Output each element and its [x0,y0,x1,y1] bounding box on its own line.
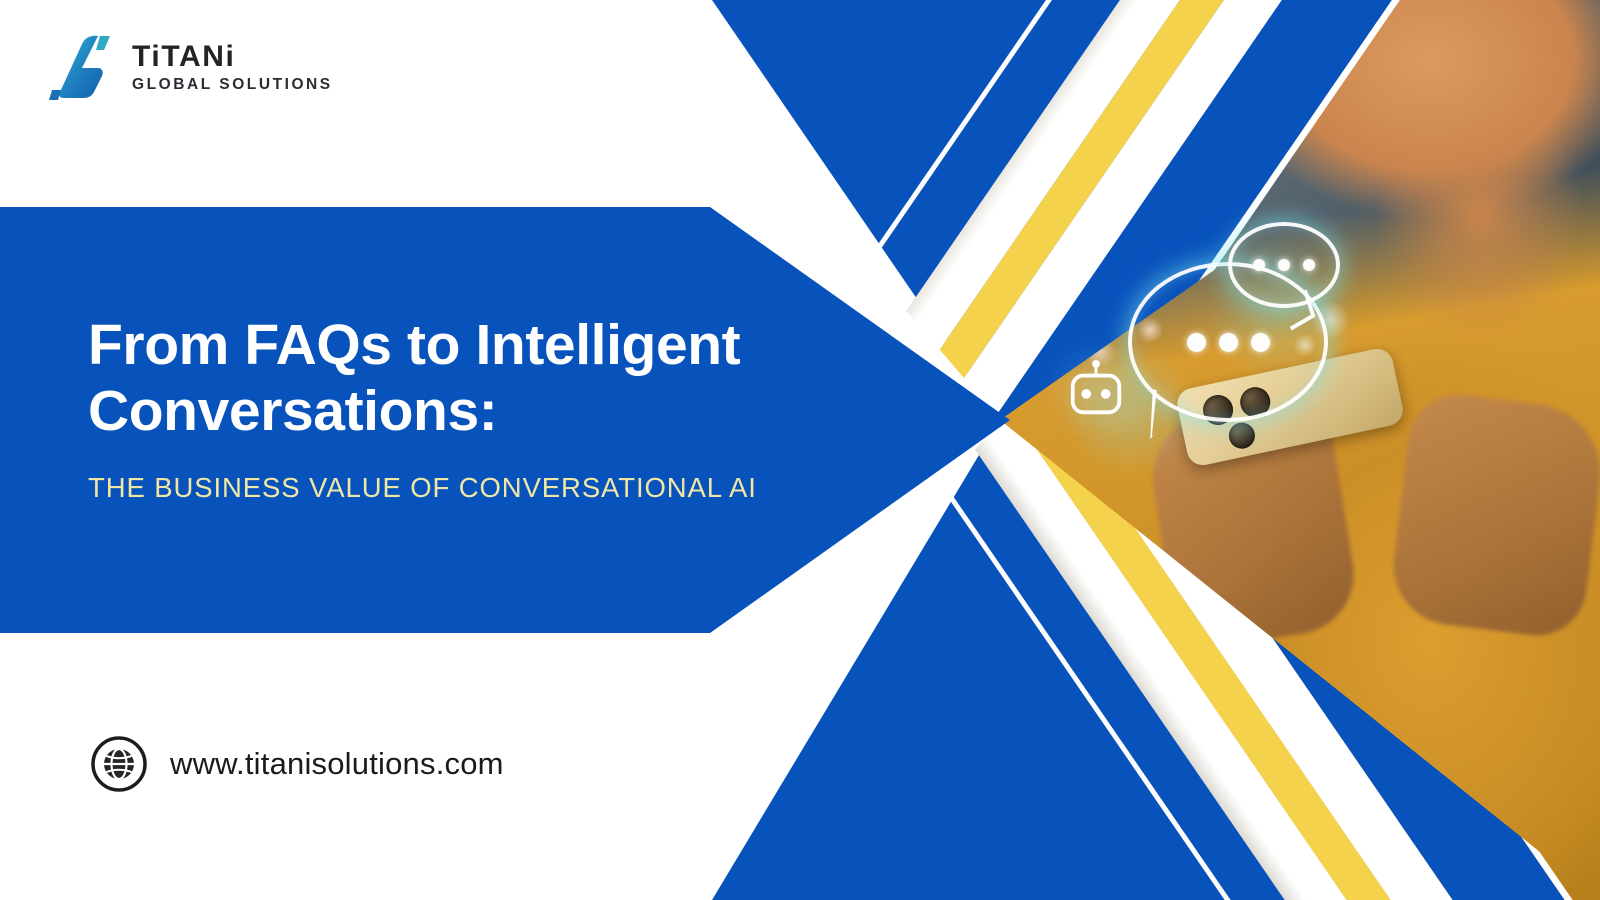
brand-name: TiTANi [132,42,333,72]
titani-monogram-icon [48,30,120,104]
headline-line-2: Conversations: [88,378,928,444]
website-link[interactable]: www.titanisolutions.com [90,735,504,793]
hero-copy: From FAQs to Intelligent Conversations: … [88,312,928,504]
globe-icon [90,735,148,793]
page-title: From FAQs to Intelligent Conversations: [88,312,928,444]
brand-logo[interactable]: TiTANi GLOBAL SOLUTIONS [48,30,333,104]
headline-line-1: From FAQs to Intelligent [88,313,740,377]
website-url: www.titanisolutions.com [170,746,504,782]
marketing-banner: TiTANi GLOBAL SOLUTIONS From FAQs to Int… [0,0,1600,900]
hero-subtitle: THE BUSINESS VALUE OF CONVERSATIONAL AI [88,472,928,504]
brand-wordmark: TiTANi GLOBAL SOLUTIONS [132,42,333,93]
brand-tagline: GLOBAL SOLUTIONS [132,77,333,93]
